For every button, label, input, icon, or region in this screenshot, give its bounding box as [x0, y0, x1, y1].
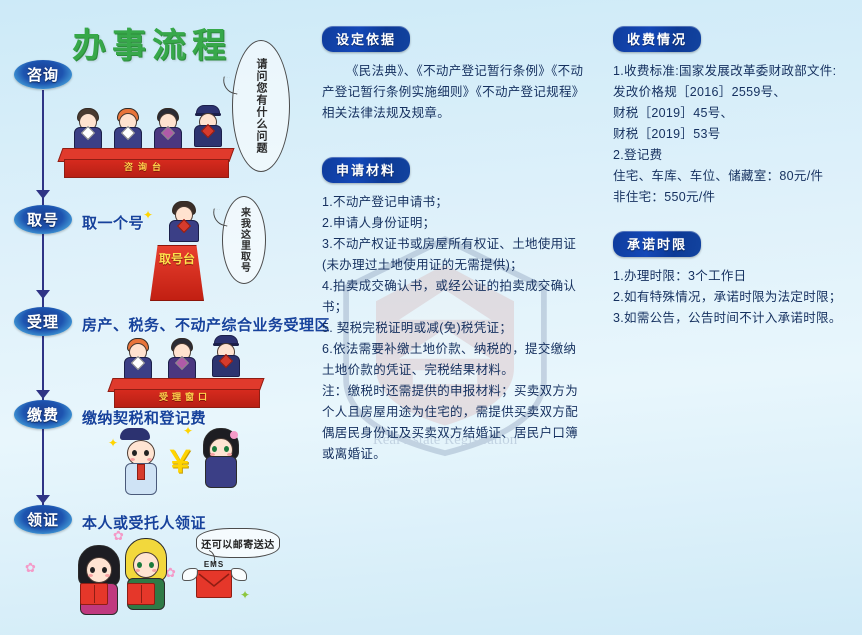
sparkle-icon: ✦: [240, 588, 250, 602]
flow-step-label-collect: 本人或受托人领证: [82, 512, 206, 533]
section-heading-materials: 申请材料: [322, 157, 410, 183]
clerk-figure: [152, 105, 182, 147]
section-heading-basis: 设定依据: [322, 26, 410, 52]
speech-bubble-ticket: 来我这里取号: [222, 196, 266, 284]
section-body-timelimit: 1.办理时限：3个工作日 2.如有特殊情况，承诺时限为法定时限； 3.如需公告，…: [613, 266, 858, 329]
certificate-book-icon: [80, 583, 108, 605]
flow-step-label-ticket: 取一个号: [82, 212, 144, 233]
flower-icon: ✿: [25, 560, 36, 576]
flow-step-badge-consult[interactable]: 咨询: [14, 60, 72, 89]
section-body-basis: 《民法典》、《不动产登记暂行条例》《不动产登记暂行条例实施细则》《不动产登记规程…: [322, 61, 584, 124]
flow-step-badge-pay[interactable]: 缴费: [14, 400, 72, 429]
sparkle-icon: ✦: [143, 208, 153, 222]
sparkle-icon: ✦: [108, 436, 118, 450]
clerk-figure: [112, 105, 142, 147]
section-heading-timelimit: 承诺时限: [613, 231, 701, 257]
section-materials: 申请材料 1.不动产登记申请书； 2.申请人身份证明； 3.不动产权证书或房屋所…: [322, 157, 587, 465]
section-fees: 收费情况 1.收费标准:国家发展改革委财政部文件: 发改价格规［2016］255…: [613, 26, 858, 208]
section-body-fees: 1.收费标准:国家发展改革委财政部文件: 发改价格规［2016］2559号、 财…: [613, 61, 858, 208]
flow-arrow-1: [36, 190, 50, 199]
sparkle-icon: ✦: [183, 424, 193, 438]
ticket-podium: 取号台: [150, 245, 204, 301]
poster-canvas: Real Estate Registration 办事流程 咨询 请问您有什么问…: [0, 0, 862, 635]
certificate-book-icon: [127, 583, 155, 605]
speech-bubble-consult: 请问您有什么问题: [232, 40, 290, 172]
section-heading-fees: 收费情况: [613, 26, 701, 52]
speech-bubble-tail-ticket: [211, 208, 231, 226]
clerk-figure: [122, 335, 152, 377]
clerk-figure: [166, 335, 196, 377]
flow-step-label-accept: 房产、税务、不动产综合业务受理区: [82, 314, 330, 335]
ems-envelope-icon: EMS: [196, 570, 232, 598]
clerk-figure-officer: [210, 333, 240, 375]
flow-chart: 咨询 请问您有什么问题: [0, 0, 310, 635]
citizen-girl-figure: [200, 428, 240, 486]
consult-desk: 咨询台: [60, 148, 230, 178]
flow-arrow-3: [36, 390, 50, 399]
flow-step-badge-collect[interactable]: 领证: [14, 505, 72, 534]
flow-arrow-4: [36, 495, 50, 504]
officer-girl-figure: [120, 428, 160, 486]
section-timelimit: 承诺时限 1.办理时限：3个工作日 2.如有特殊情况，承诺时限为法定时限； 3.…: [613, 231, 858, 329]
section-basis: 设定依据 《民法典》、《不动产登记暂行条例》《不动产登记暂行条例实施细则》《不动…: [322, 26, 584, 124]
accept-window-desk: 受理窗口: [110, 378, 260, 406]
section-body-materials: 1.不动产登记申请书； 2.申请人身份证明； 3.不动产权证书或房屋所有权证、土…: [322, 192, 587, 465]
speech-bubble-tail-consult: [221, 76, 241, 94]
yen-symbol-icon: ￥: [165, 437, 195, 481]
flow-step-badge-ticket[interactable]: 取号: [14, 205, 72, 234]
wing-icon: [231, 568, 247, 581]
flow-step-badge-accept[interactable]: 受理: [14, 307, 72, 336]
flow-arrow-2: [36, 290, 50, 299]
clerk-figure: [72, 105, 102, 147]
clerk-figure: [165, 198, 201, 244]
clerk-figure-officer: [192, 103, 222, 145]
